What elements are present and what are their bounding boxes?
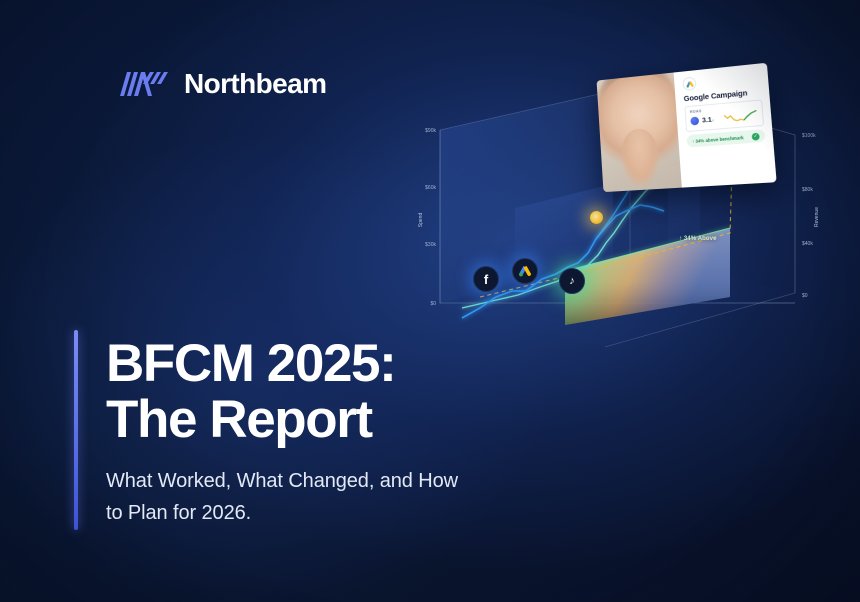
brand-name: Northbeam xyxy=(184,68,326,100)
headline-accent-bar xyxy=(74,330,78,530)
page-title: BFCM 2025: The Report xyxy=(106,336,395,448)
brand-logo: Northbeam xyxy=(118,66,326,102)
page-subtitle: What Worked, What Changed, and How to Pl… xyxy=(106,466,458,529)
northbeam-chevron-mark xyxy=(118,66,170,102)
